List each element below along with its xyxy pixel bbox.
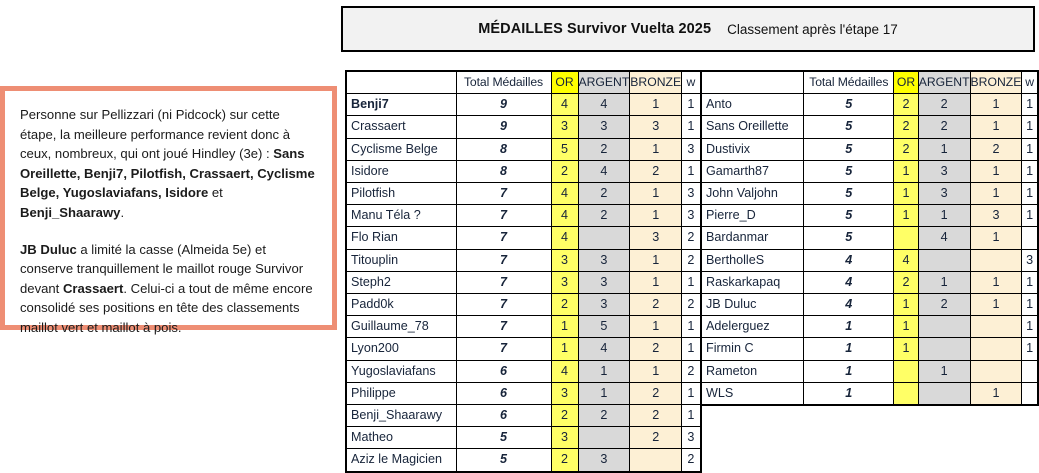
cell-bronze [970, 249, 1022, 271]
cell-name: Guillaume_78 [346, 316, 456, 338]
table-row: Firmin C111 [701, 338, 1038, 360]
header-name [346, 71, 456, 94]
cell-bronze: 2 [630, 405, 682, 427]
cell-w: 3 [682, 183, 701, 205]
cell-name: Raskarkapaq [701, 271, 804, 293]
table-row: Yugoslaviafans64112 [346, 360, 701, 382]
cell-w: 1 [1022, 205, 1038, 227]
header-bronze: BRONZE [970, 71, 1022, 94]
cell-bronze: 3 [970, 205, 1022, 227]
cell-silver: 3 [578, 271, 630, 293]
cell-silver: 3 [918, 160, 970, 182]
cell-name: Bardanmar [701, 227, 804, 249]
cell-bronze: 1 [970, 160, 1022, 182]
table-row: Philippe63121 [346, 382, 701, 404]
cell-bronze: 1 [630, 271, 682, 293]
cell-gold: 2 [551, 294, 578, 316]
cell-silver: 1 [578, 382, 630, 404]
cell-w: 1 [682, 94, 701, 116]
cell-w: 1 [1022, 116, 1038, 138]
cell-silver: 4 [578, 94, 630, 116]
cell-silver [578, 427, 630, 449]
cell-name: Padd0k [346, 294, 456, 316]
cell-total-medals: 5 [804, 138, 894, 160]
cell-w: 1 [1022, 316, 1038, 338]
cell-w: 1 [1022, 94, 1038, 116]
cell-total-medals: 5 [804, 94, 894, 116]
cell-w: 1 [1022, 271, 1038, 293]
header-row: Total Médailles OR ARGENT BRONZE w [701, 71, 1038, 94]
table-row: Anto52211 [701, 94, 1038, 116]
cell-silver: 2 [578, 405, 630, 427]
cell-gold: 1 [894, 338, 918, 360]
table-row: Pierre_D51131 [701, 205, 1038, 227]
cell-bronze: 1 [630, 249, 682, 271]
cell-w: 1 [682, 271, 701, 293]
table-right-header: Total Médailles OR ARGENT BRONZE w [701, 71, 1038, 94]
cell-name: Yugoslaviafans [346, 360, 456, 382]
cell-silver [918, 382, 970, 405]
header-silver: ARGENT [918, 71, 970, 94]
cell-gold: 2 [894, 116, 918, 138]
cell-gold: 2 [894, 94, 918, 116]
cell-w: 2 [682, 249, 701, 271]
commentary-p2-name-leader: JB Duluc [20, 242, 77, 257]
cell-total-medals: 7 [456, 227, 551, 249]
cell-gold: 1 [894, 160, 918, 182]
cell-gold: 2 [551, 160, 578, 182]
table-row: Adelerguez111 [701, 316, 1038, 338]
cell-bronze: 1 [970, 183, 1022, 205]
cell-bronze [970, 360, 1022, 382]
medal-table-right: Total Médailles OR ARGENT BRONZE w Anto5… [700, 70, 1039, 406]
cell-total-medals: 9 [456, 116, 551, 138]
cell-silver: 2 [578, 183, 630, 205]
cell-w: 3 [682, 138, 701, 160]
cell-bronze: 1 [970, 116, 1022, 138]
cell-name: Sans Oreillette [701, 116, 804, 138]
table-row: Dustivix52121 [701, 138, 1038, 160]
commentary-p1-text-c: . [120, 205, 124, 220]
cell-name: Matheo [346, 427, 456, 449]
cell-w [1022, 382, 1038, 405]
cell-name: Manu Téla ? [346, 205, 456, 227]
commentary-box: Personne sur Pellizzari (ni Pidcock) sur… [0, 86, 337, 330]
cell-gold: 4 [551, 94, 578, 116]
cell-w: 1 [682, 405, 701, 427]
table-row: JB Duluc41211 [701, 294, 1038, 316]
table-row: Rameton11 [701, 360, 1038, 382]
header-total: Total Médailles [456, 71, 551, 94]
cell-bronze: 2 [630, 382, 682, 404]
table-row: BertholleS443 [701, 249, 1038, 271]
cell-name: Benji7 [346, 94, 456, 116]
cell-silver [918, 249, 970, 271]
cell-gold: 3 [551, 427, 578, 449]
cell-name: Cyclisme Belge [346, 138, 456, 160]
cell-total-medals: 4 [804, 249, 894, 271]
banner-subtitle: Classement après l'étape 17 [727, 22, 898, 37]
cell-w: 2 [682, 449, 701, 472]
table-row: Cyclisme Belge85213 [346, 138, 701, 160]
cell-w: 3 [1022, 249, 1038, 271]
cell-gold [894, 227, 918, 249]
cell-bronze: 2 [630, 294, 682, 316]
cell-w: 1 [682, 116, 701, 138]
commentary-paragraph-2: JB Duluc a limité la casse (Almeida 5e) … [20, 240, 317, 338]
cell-silver: 2 [918, 116, 970, 138]
cell-gold: 3 [551, 116, 578, 138]
cell-silver: 3 [578, 249, 630, 271]
cell-total-medals: 7 [456, 316, 551, 338]
cell-name: Anto [701, 94, 804, 116]
cell-total-medals: 5 [804, 183, 894, 205]
cell-w: 1 [682, 160, 701, 182]
cell-total-medals: 5 [804, 160, 894, 182]
cell-name: Philippe [346, 382, 456, 404]
cell-w: 2 [682, 294, 701, 316]
cell-w [1022, 360, 1038, 382]
cell-bronze: 2 [630, 427, 682, 449]
table-row: Isidore82421 [346, 160, 701, 182]
cell-total-medals: 4 [804, 294, 894, 316]
cell-bronze: 2 [630, 160, 682, 182]
cell-gold: 3 [551, 249, 578, 271]
cell-gold: 2 [894, 138, 918, 160]
cell-total-medals: 1 [804, 360, 894, 382]
cell-silver: 4 [578, 338, 630, 360]
table-row: Pilotfish74213 [346, 183, 701, 205]
table-left-header: Total Médailles OR ARGENT BRONZE w [346, 71, 701, 94]
cell-total-medals: 7 [456, 205, 551, 227]
cell-name: John Valjohn [701, 183, 804, 205]
cell-total-medals: 7 [456, 338, 551, 360]
table-row: Raskarkapaq42111 [701, 271, 1038, 293]
cell-silver: 2 [918, 94, 970, 116]
cell-total-medals: 5 [456, 449, 551, 472]
cell-w: 1 [682, 382, 701, 404]
cell-total-medals: 7 [456, 249, 551, 271]
cell-gold: 2 [894, 271, 918, 293]
cell-w: 1 [682, 338, 701, 360]
medal-table-left: Total Médailles OR ARGENT BRONZE w Benji… [345, 70, 702, 473]
cell-total-medals: 6 [456, 360, 551, 382]
table-right-body: Anto52211Sans Oreillette52211Dustivix521… [701, 94, 1038, 405]
cell-gold: 3 [551, 382, 578, 404]
cell-name: Adelerguez [701, 316, 804, 338]
cell-total-medals: 8 [456, 138, 551, 160]
table-row: Sans Oreillette52211 [701, 116, 1038, 138]
commentary-p1-name-last: Benji_Shaarawy [20, 205, 120, 220]
cell-bronze: 1 [630, 138, 682, 160]
cell-gold [894, 382, 918, 405]
cell-name: Crassaert [346, 116, 456, 138]
cell-bronze: 1 [970, 271, 1022, 293]
table-row: Crassaert93331 [346, 116, 701, 138]
cell-w: 2 [682, 360, 701, 382]
cell-gold: 4 [551, 205, 578, 227]
cell-name: Aziz le Magicien [346, 449, 456, 472]
cell-total-medals: 7 [456, 294, 551, 316]
cell-name: BertholleS [701, 249, 804, 271]
cell-silver: 5 [578, 316, 630, 338]
cell-name: Isidore [346, 160, 456, 182]
cell-bronze: 1 [970, 94, 1022, 116]
header-w: w [682, 71, 701, 94]
cell-name: Benji_Shaarawy [346, 405, 456, 427]
table-row: WLS11 [701, 382, 1038, 405]
cell-total-medals: 5 [804, 116, 894, 138]
table-row: Benji_Shaarawy62221 [346, 405, 701, 427]
cell-total-medals: 7 [456, 183, 551, 205]
cell-total-medals: 4 [804, 271, 894, 293]
cell-silver: 2 [578, 205, 630, 227]
title-banner: MÉDAILLES Survivor Vuelta 2025 Classemen… [341, 6, 1035, 52]
header-silver: ARGENT [578, 71, 630, 94]
cell-w: 2 [682, 227, 701, 249]
cell-bronze [970, 316, 1022, 338]
cell-name: Titouplin [346, 249, 456, 271]
cell-name: Rameton [701, 360, 804, 382]
cell-total-medals: 9 [456, 94, 551, 116]
cell-gold: 4 [551, 227, 578, 249]
cell-gold: 5 [551, 138, 578, 160]
cell-silver: 1 [918, 138, 970, 160]
banner-title: MÉDAILLES Survivor Vuelta 2025 [478, 21, 711, 37]
table-row: Bardanmar541 [701, 227, 1038, 249]
table-row: Benji794411 [346, 94, 701, 116]
cell-total-medals: 7 [456, 271, 551, 293]
header-row: Total Médailles OR ARGENT BRONZE w [346, 71, 701, 94]
cell-silver: 2 [918, 294, 970, 316]
cell-name: WLS [701, 382, 804, 405]
cell-gold: 1 [894, 183, 918, 205]
table-row: Guillaume_7871511 [346, 316, 701, 338]
cell-w [1022, 227, 1038, 249]
cell-bronze: 2 [630, 338, 682, 360]
cell-bronze: 1 [630, 360, 682, 382]
cell-bronze [630, 449, 682, 472]
cell-silver: 4 [918, 227, 970, 249]
cell-w: 1 [1022, 138, 1038, 160]
cell-bronze [970, 338, 1022, 360]
cell-total-medals: 8 [456, 160, 551, 182]
cell-name: Gamarth87 [701, 160, 804, 182]
cell-bronze: 1 [630, 94, 682, 116]
cell-bronze: 3 [630, 227, 682, 249]
cell-total-medals: 5 [804, 227, 894, 249]
table-row: John Valjohn51311 [701, 183, 1038, 205]
cell-bronze: 1 [630, 316, 682, 338]
commentary-p2-name-second: Crassaert [63, 281, 123, 296]
cell-silver: 3 [578, 449, 630, 472]
cell-silver: 2 [578, 138, 630, 160]
cell-w: 3 [682, 427, 701, 449]
cell-name: JB Duluc [701, 294, 804, 316]
cell-silver: 3 [578, 294, 630, 316]
cell-bronze: 1 [970, 294, 1022, 316]
table-row: Titouplin73312 [346, 249, 701, 271]
cell-bronze: 1 [630, 183, 682, 205]
header-gold: OR [551, 71, 578, 94]
table-row: Steph273311 [346, 271, 701, 293]
cell-bronze: 2 [970, 138, 1022, 160]
cell-gold: 4 [894, 249, 918, 271]
cell-name: Pilotfish [346, 183, 456, 205]
cell-total-medals: 6 [456, 405, 551, 427]
commentary-p1-text-a: Personne sur Pellizzari (ni Pidcock) sur… [20, 107, 290, 161]
header-total: Total Médailles [804, 71, 894, 94]
cell-bronze: 1 [970, 382, 1022, 405]
header-w: w [1022, 71, 1038, 94]
cell-name: Lyon200 [346, 338, 456, 360]
cell-gold: 1 [894, 316, 918, 338]
table-row: Flo Rian7432 [346, 227, 701, 249]
cell-total-medals: 1 [804, 316, 894, 338]
cell-silver: 3 [578, 116, 630, 138]
cell-silver: 1 [918, 360, 970, 382]
cell-gold: 4 [551, 183, 578, 205]
header-bronze: BRONZE [630, 71, 682, 94]
cell-name: Firmin C [701, 338, 804, 360]
cell-gold: 1 [894, 294, 918, 316]
cell-total-medals: 5 [804, 205, 894, 227]
cell-silver: 3 [918, 183, 970, 205]
cell-gold: 1 [894, 205, 918, 227]
commentary-p1-text-b: et [208, 185, 223, 200]
cell-total-medals: 5 [456, 427, 551, 449]
cell-w: 1 [1022, 294, 1038, 316]
cell-w: 1 [1022, 338, 1038, 360]
cell-gold: 2 [551, 405, 578, 427]
header-gold: OR [894, 71, 918, 94]
cell-silver: 1 [918, 205, 970, 227]
cell-gold [894, 360, 918, 382]
cell-silver: 1 [918, 271, 970, 293]
cell-silver [578, 227, 630, 249]
cell-name: Steph2 [346, 271, 456, 293]
cell-total-medals: 1 [804, 338, 894, 360]
cell-name: Pierre_D [701, 205, 804, 227]
table-row: Padd0k72322 [346, 294, 701, 316]
cell-silver: 4 [578, 160, 630, 182]
table-left-body: Benji794411Crassaert93331Cyclisme Belge8… [346, 94, 701, 472]
cell-name: Dustivix [701, 138, 804, 160]
table-row: Aziz le Magicien5232 [346, 449, 701, 472]
cell-gold: 4 [551, 360, 578, 382]
cell-bronze: 1 [630, 205, 682, 227]
cell-total-medals: 1 [804, 382, 894, 405]
cell-silver: 1 [578, 360, 630, 382]
cell-w: 1 [1022, 160, 1038, 182]
cell-w: 3 [682, 205, 701, 227]
table-row: Lyon20071421 [346, 338, 701, 360]
cell-silver [918, 316, 970, 338]
cell-name: Flo Rian [346, 227, 456, 249]
table-row: Gamarth8751311 [701, 160, 1038, 182]
header-name [701, 71, 804, 94]
cell-gold: 3 [551, 271, 578, 293]
cell-gold: 1 [551, 316, 578, 338]
table-row: Manu Téla ?74213 [346, 205, 701, 227]
cell-gold: 1 [551, 338, 578, 360]
cell-bronze: 1 [970, 227, 1022, 249]
cell-silver [918, 338, 970, 360]
commentary-paragraph-1: Personne sur Pellizzari (ni Pidcock) sur… [20, 105, 317, 223]
cell-w: 1 [1022, 183, 1038, 205]
cell-gold: 2 [551, 449, 578, 472]
cell-total-medals: 6 [456, 382, 551, 404]
cell-bronze: 3 [630, 116, 682, 138]
table-row: Matheo5323 [346, 427, 701, 449]
cell-w: 1 [682, 316, 701, 338]
